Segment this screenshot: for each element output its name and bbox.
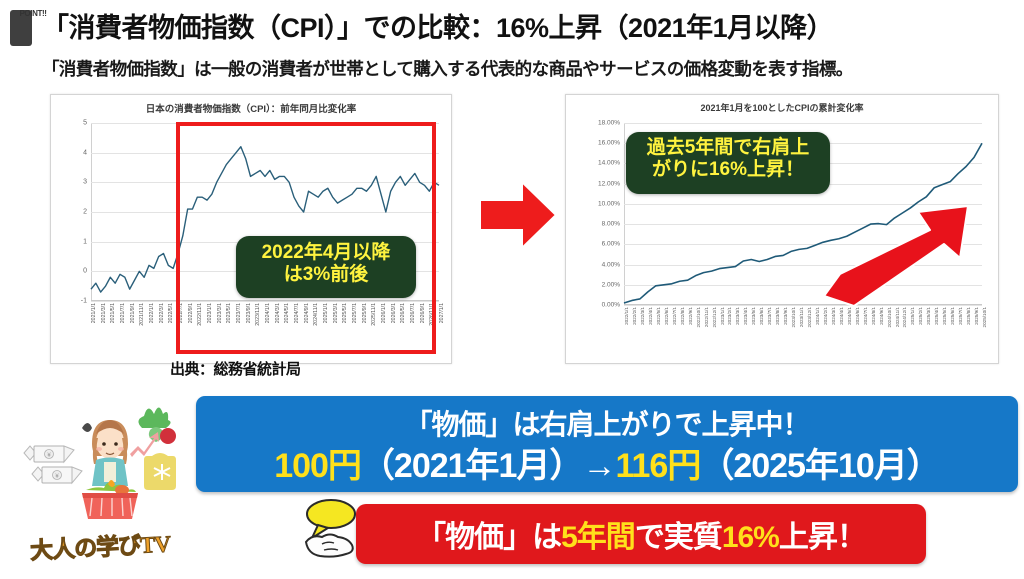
x-axis-tick-label: 2021/1/1: [91, 303, 97, 323]
x-axis-tick-label: 2021/11/1: [139, 303, 145, 326]
x-axis-tick-label: 2023/2/1: [727, 307, 732, 325]
y-axis-tick-label: 3: [83, 179, 87, 186]
page-title: 「消費者物価指数（CPI）」での比較：16%上昇（2021年1月以降）: [42, 8, 833, 48]
x-axis-labels-cpi-cumulative: 2022/1/12022/2/12022/3/12022/4/12022/5/1…: [624, 305, 982, 367]
source-caption: 出典：総務省統計局: [170, 358, 301, 379]
x-axis-tick-label: 2022/8/1: [680, 307, 685, 325]
woman-figure: [92, 420, 128, 486]
x-axis-tick-label: 2021/7/1: [120, 303, 126, 323]
x-axis-tick-label: 2023/10/1: [791, 307, 796, 327]
x-axis-tick-label: 2023/4/1: [743, 307, 748, 325]
callout-right-line1: 過去5年間で右肩上: [626, 137, 830, 159]
x-axis-tick-label: 2022/1/1: [149, 303, 155, 323]
x-axis-tick-label: 2023/12/1: [807, 307, 812, 327]
point-badge-label: POINT!!: [10, 9, 56, 18]
x-axis-tick-label: 2022/5/1: [656, 307, 661, 325]
red-banner-years: 5年間: [561, 521, 635, 554]
slide-root: 「消費者物価指数（CPI）」での比較：16%上昇（2021年1月以降） 「消費者…: [0, 0, 1024, 579]
blue-banner-period-start: （2021年1月）→: [361, 447, 616, 485]
y-axis-tick-label: 1: [83, 238, 87, 245]
x-axis-tick-label: 2022/5/1: [168, 303, 174, 323]
y-axis-tick-label: 8.00%: [602, 221, 620, 228]
y-axis-tick-label: 10.00%: [598, 200, 620, 207]
blue-banner-price-end: 116円: [615, 447, 700, 485]
x-axis-tick-label: 2023/1/1: [720, 307, 725, 325]
rice-bag-icon: [144, 453, 176, 490]
y-axis-tick-label: 6.00%: [602, 241, 620, 248]
blue-banner-period-end: （2025年10月）: [700, 447, 939, 485]
sweat-icon: [82, 423, 92, 432]
x-axis-tick-label: 2021/5/1: [110, 303, 116, 323]
callout-left: 2022年4月以降 は3%前後: [236, 236, 416, 298]
blue-banner-line1: 「物価」は右肩上がりで上昇中！: [196, 403, 1018, 443]
y-axis-tick-label: 5: [83, 120, 87, 127]
growth-arrow-icon: [818, 200, 978, 310]
transition-arrow-icon: [478, 178, 558, 252]
x-axis-tick-label: 2022/3/1: [159, 303, 165, 323]
callout-right-line2: がりに16%上昇！: [626, 159, 830, 181]
x-axis-tick-label: 2023/7/1: [767, 307, 772, 325]
x-axis-tick-label: 2022/6/1: [664, 307, 669, 325]
y-axis-tick-label: 2: [83, 209, 87, 216]
blue-banner: 「物価」は右肩上がりで上昇中！ 100円（2021年1月）→116円（2025年…: [196, 396, 1018, 492]
red-banner-part1: 「物価」は: [416, 521, 561, 554]
red-banner-part3: 上昇！: [779, 521, 866, 554]
y-axis-tick-label: -1: [81, 298, 87, 305]
channel-logo-text: 大人の学びTV: [13, 524, 187, 567]
x-axis-tick-label: 2027/1/1: [439, 303, 445, 323]
callout-left-line2: は3%前後: [236, 264, 416, 286]
blue-banner-price-start: 100円: [274, 447, 361, 485]
x-axis-tick-label: 2022/9/1: [688, 307, 693, 325]
shopper-illustration: ¥ ¥: [12, 398, 202, 528]
x-axis-tick-label: 2021/9/1: [130, 303, 136, 323]
small-up-arrow-icon: [130, 432, 159, 457]
x-axis-tick-label: 2022/11/1: [704, 307, 709, 327]
chart-title-cpi-yoy: 日本の消費者物価指数（CPI）：前年同月比変化率: [51, 101, 451, 115]
x-axis-tick-label: 2023/6/1: [759, 307, 764, 325]
x-axis-tick-label: 2024/11/1: [895, 307, 900, 327]
x-axis-tick-label: 2025/10/1: [982, 307, 987, 327]
x-axis-tick-label: 2022/7/1: [672, 307, 677, 325]
x-axis-tick-label: 2022/12/1: [712, 307, 717, 327]
red-banner-text: 「物価」は5年間で実質16%上昇！: [356, 512, 926, 556]
red-banner-percent: 16%: [722, 521, 779, 554]
x-axis-tick-label: 2022/4/1: [648, 307, 653, 325]
y-axis-tick-label: 2.00%: [602, 281, 620, 288]
x-axis-tick-label: 2022/2/1: [632, 307, 637, 325]
chart-title-cpi-cumulative: 2021年1月を100としたCPIの累計変化率: [566, 101, 998, 114]
x-axis-tick-label: 2022/1/1: [624, 307, 629, 325]
blue-banner-line2: 100円（2021年1月）→116円（2025年10月）: [196, 438, 1018, 487]
x-axis-tick-label: 2023/5/1: [751, 307, 756, 325]
y-axis-tick-label: 16.00%: [598, 140, 620, 147]
x-axis-tick-label: 2023/11/1: [799, 307, 804, 327]
title-bar: 「消費者物価指数（CPI）」での比較：16%上昇（2021年1月以降）: [10, 8, 1014, 48]
shopping-basket-icon: [82, 480, 138, 519]
x-axis-tick-label: 2023/9/1: [783, 307, 788, 325]
y-axis-tick-label: 4: [83, 149, 87, 156]
callout-right: 過去5年間で右肩上 がりに16%上昇！: [626, 132, 830, 194]
red-banner: 「物価」は5年間で実質16%上昇！: [356, 504, 926, 564]
y-axis-tick-label: 0: [83, 268, 87, 275]
x-axis-tick-label: 2021/3/1: [101, 303, 107, 323]
x-axis-tick-label: 2024/10/1: [887, 307, 892, 327]
x-axis-tick-label: 2024/12/1: [902, 307, 907, 327]
page-subtitle: 「消費者物価指数」は一般の消費者が世帯として購入する代表的な商品やサービスの価格…: [42, 56, 1017, 81]
flying-money-icon-2: ¥: [32, 467, 82, 483]
y-axis-tick-label: 14.00%: [598, 160, 620, 167]
y-axis-tick-label: 12.00%: [598, 180, 620, 187]
x-axis-tick-label: 2022/10/1: [696, 307, 701, 327]
x-axis-tick-label: 2023/3/1: [735, 307, 740, 325]
y-axis-tick-label: 18.00%: [598, 120, 620, 127]
red-banner-part2: で実質: [635, 521, 722, 554]
callout-left-line1: 2022年4月以降: [236, 242, 416, 264]
x-axis-tick-label: 2023/8/1: [775, 307, 780, 325]
y-axis-tick-label: 4.00%: [602, 261, 620, 268]
flying-money-icon: ¥: [24, 446, 74, 462]
x-axis-tick-label: 2022/3/1: [640, 307, 645, 325]
channel-logo: 大人の学びTV: [14, 528, 186, 568]
y-axis-tick-label: 0.00%: [602, 302, 620, 309]
